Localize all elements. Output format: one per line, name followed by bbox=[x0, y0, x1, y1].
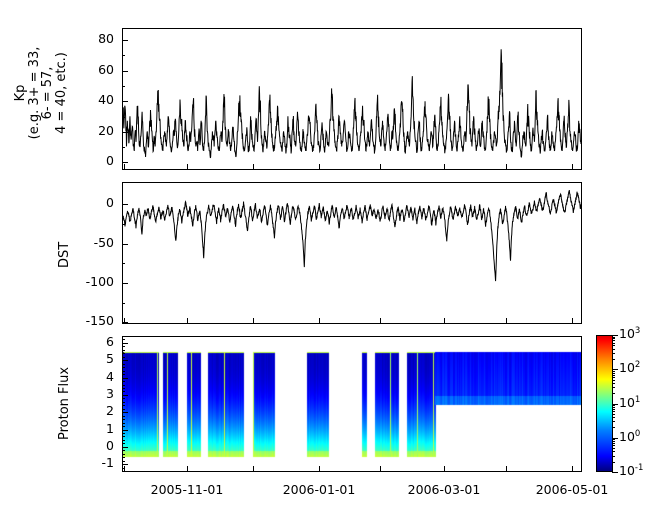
y-tick-major bbox=[122, 40, 128, 41]
colorbar-tick-minor bbox=[612, 417, 615, 418]
y-tick-minor bbox=[122, 381, 125, 382]
x-tick-major bbox=[572, 164, 573, 170]
x-tick-major bbox=[506, 164, 507, 170]
y-tick-minor bbox=[122, 339, 125, 340]
y-tick-major bbox=[122, 101, 128, 102]
y-tick-minor bbox=[122, 409, 125, 410]
kp-series bbox=[123, 29, 581, 169]
x-tick-major bbox=[253, 318, 254, 324]
y-tick-minor bbox=[122, 461, 125, 462]
kp-axis-title-line-2: (e.g. 3+ = 33, bbox=[28, 18, 42, 168]
y-tick-label: 0 bbox=[60, 197, 114, 210]
colorbar-tick-minor bbox=[612, 393, 615, 394]
colorbar-tick-minor bbox=[612, 462, 615, 463]
y-tick-major bbox=[122, 204, 128, 205]
y-tick-major bbox=[122, 244, 128, 245]
colorbar-tick-minor bbox=[612, 371, 615, 372]
colorbar-tick-label: 101 bbox=[619, 396, 640, 410]
x-tick-major bbox=[124, 164, 125, 170]
x-tick-major bbox=[124, 466, 125, 472]
y-tick-label: 5 bbox=[60, 353, 114, 366]
y-tick-minor bbox=[122, 436, 125, 437]
y-tick-minor bbox=[122, 398, 125, 399]
y-tick-major bbox=[122, 430, 128, 431]
y-tick-label: -100 bbox=[60, 276, 114, 289]
colorbar-tick-minor bbox=[612, 373, 615, 374]
y-tick-label: 80 bbox=[60, 33, 114, 46]
y-tick-minor bbox=[122, 440, 125, 441]
y-tick-minor bbox=[122, 423, 125, 424]
kp-panel bbox=[122, 28, 582, 170]
y-tick-minor bbox=[122, 55, 125, 56]
y-tick-minor bbox=[122, 147, 125, 148]
y-tick-minor bbox=[122, 457, 125, 458]
x-tick-major bbox=[572, 466, 573, 472]
colorbar-tick-minor bbox=[612, 340, 615, 341]
y-tick-minor bbox=[122, 402, 125, 403]
y-tick-minor bbox=[122, 371, 125, 372]
y-tick-label: 6 bbox=[60, 336, 114, 349]
x-tick-major bbox=[124, 318, 125, 324]
y-tick-major bbox=[122, 71, 128, 72]
x-tick-major bbox=[380, 318, 381, 324]
colorbar-tick-minor bbox=[612, 451, 615, 452]
colorbar-tick-label: 103 bbox=[619, 327, 640, 341]
colorbar-tick-minor bbox=[612, 421, 615, 422]
colorbar-tick-minor bbox=[612, 409, 615, 410]
colorbar-tick-label: 100 bbox=[619, 430, 640, 444]
y-tick-minor bbox=[122, 385, 125, 386]
y-tick-minor bbox=[122, 416, 125, 417]
x-tick-major bbox=[187, 164, 188, 170]
colorbar-tick-major bbox=[612, 472, 618, 473]
dst-series bbox=[123, 183, 581, 323]
y-tick-minor bbox=[122, 391, 125, 392]
y-tick-minor bbox=[122, 443, 125, 444]
colorbar-tick-minor bbox=[612, 380, 615, 381]
colorbar-tick-minor bbox=[612, 345, 615, 346]
y-tick-minor bbox=[122, 224, 125, 225]
colorbar-tick-minor bbox=[612, 456, 615, 457]
y-tick-major bbox=[122, 360, 128, 361]
colorbar-tick-major bbox=[612, 369, 618, 370]
x-tick-label: 2006-01-01 bbox=[269, 484, 369, 497]
x-tick-major bbox=[506, 466, 507, 472]
colorbar-tick-minor bbox=[612, 343, 615, 344]
colorbar-tick-minor bbox=[612, 448, 615, 449]
x-tick-major bbox=[572, 318, 573, 324]
y-tick-label: 2 bbox=[60, 405, 114, 418]
y-tick-label: 0 bbox=[60, 155, 114, 168]
x-tick-major bbox=[319, 164, 320, 170]
y-tick-label: -1 bbox=[60, 457, 114, 470]
y-tick-label: 40 bbox=[60, 94, 114, 107]
x-tick-label: 2005-11-01 bbox=[137, 484, 237, 497]
y-tick-major bbox=[122, 378, 128, 379]
y-tick-label: 1 bbox=[60, 423, 114, 436]
x-tick-major bbox=[253, 466, 254, 472]
colorbar-tick-minor bbox=[612, 353, 615, 354]
y-tick-minor bbox=[122, 419, 125, 420]
y-tick-label: -50 bbox=[60, 237, 114, 250]
y-tick-minor bbox=[122, 357, 125, 358]
colorbar-tick-minor bbox=[612, 349, 615, 350]
y-tick-minor bbox=[122, 405, 125, 406]
y-tick-minor bbox=[122, 350, 125, 351]
y-tick-minor bbox=[122, 364, 125, 365]
x-tick-major bbox=[380, 164, 381, 170]
space-weather-figure: Kp (e.g. 3+ = 33, 6- = 57, 4 = 40, etc.)… bbox=[0, 0, 665, 523]
colorbar-tick-minor bbox=[612, 441, 615, 442]
x-tick-label: 2006-03-01 bbox=[394, 484, 494, 497]
y-tick-minor bbox=[122, 117, 125, 118]
y-tick-minor bbox=[122, 367, 125, 368]
x-tick-major bbox=[319, 318, 320, 324]
colorbar-tick-minor bbox=[612, 375, 615, 376]
colorbar-tick-major bbox=[612, 335, 618, 336]
y-tick-label: 60 bbox=[60, 64, 114, 77]
y-tick-minor bbox=[122, 86, 125, 87]
proton-flux-panel bbox=[122, 336, 582, 472]
y-tick-minor bbox=[122, 433, 125, 434]
x-tick-major bbox=[444, 466, 445, 472]
y-tick-minor bbox=[122, 426, 125, 427]
y-tick-minor bbox=[122, 303, 125, 304]
y-tick-label: 3 bbox=[60, 388, 114, 401]
colorbar-tick-minor bbox=[612, 414, 615, 415]
y-tick-major bbox=[122, 343, 128, 344]
x-tick-major bbox=[319, 466, 320, 472]
colorbar-tick-label: 102 bbox=[619, 361, 640, 375]
colorbar-tick-minor bbox=[612, 337, 615, 338]
y-tick-major bbox=[122, 464, 128, 465]
y-tick-label: -150 bbox=[60, 315, 114, 328]
colorbar bbox=[596, 335, 613, 472]
kp-axis-title-line-1: Kp bbox=[14, 18, 28, 168]
dst-panel bbox=[122, 182, 582, 324]
colorbar-tick-minor bbox=[612, 445, 615, 446]
x-tick-major bbox=[506, 318, 507, 324]
colorbar-tick-minor bbox=[612, 377, 615, 378]
colorbar-tick-minor bbox=[612, 405, 615, 406]
y-tick-minor bbox=[122, 346, 125, 347]
colorbar-tick-minor bbox=[612, 407, 615, 408]
y-tick-minor bbox=[122, 454, 125, 455]
proton-flux-heatmap bbox=[123, 337, 582, 472]
x-tick-major bbox=[444, 318, 445, 324]
y-tick-minor bbox=[122, 388, 125, 389]
x-tick-major bbox=[187, 466, 188, 472]
y-tick-label: 20 bbox=[60, 125, 114, 138]
x-tick-major bbox=[444, 164, 445, 170]
x-tick-major bbox=[253, 164, 254, 170]
x-tick-major bbox=[380, 466, 381, 472]
y-tick-major bbox=[122, 395, 128, 396]
y-tick-label: 4 bbox=[60, 371, 114, 384]
x-tick-label: 2006-05-01 bbox=[522, 484, 622, 497]
y-tick-major bbox=[122, 322, 128, 323]
colorbar-tick-minor bbox=[612, 387, 615, 388]
y-tick-minor bbox=[122, 450, 125, 451]
colorbar-tick-minor bbox=[612, 383, 615, 384]
colorbar-tick-minor bbox=[612, 439, 615, 440]
kp-axis-title-line-3: 6- = 57, bbox=[41, 18, 55, 168]
y-tick-minor bbox=[122, 263, 125, 264]
y-tick-label: 0 bbox=[60, 440, 114, 453]
y-tick-major bbox=[122, 412, 128, 413]
y-tick-major bbox=[122, 283, 128, 284]
x-tick-major bbox=[187, 318, 188, 324]
colorbar-tick-minor bbox=[612, 427, 615, 428]
colorbar-tick-minor bbox=[612, 359, 615, 360]
y-tick-major bbox=[122, 162, 128, 163]
y-tick-major bbox=[122, 447, 128, 448]
y-tick-minor bbox=[122, 374, 125, 375]
colorbar-gradient bbox=[596, 335, 613, 472]
colorbar-tick-minor bbox=[612, 443, 615, 444]
y-tick-minor bbox=[122, 353, 125, 354]
y-tick-major bbox=[122, 132, 128, 133]
colorbar-tick-minor bbox=[612, 411, 615, 412]
colorbar-tick-label: 10-1 bbox=[619, 464, 643, 478]
colorbar-tick-minor bbox=[612, 338, 615, 339]
